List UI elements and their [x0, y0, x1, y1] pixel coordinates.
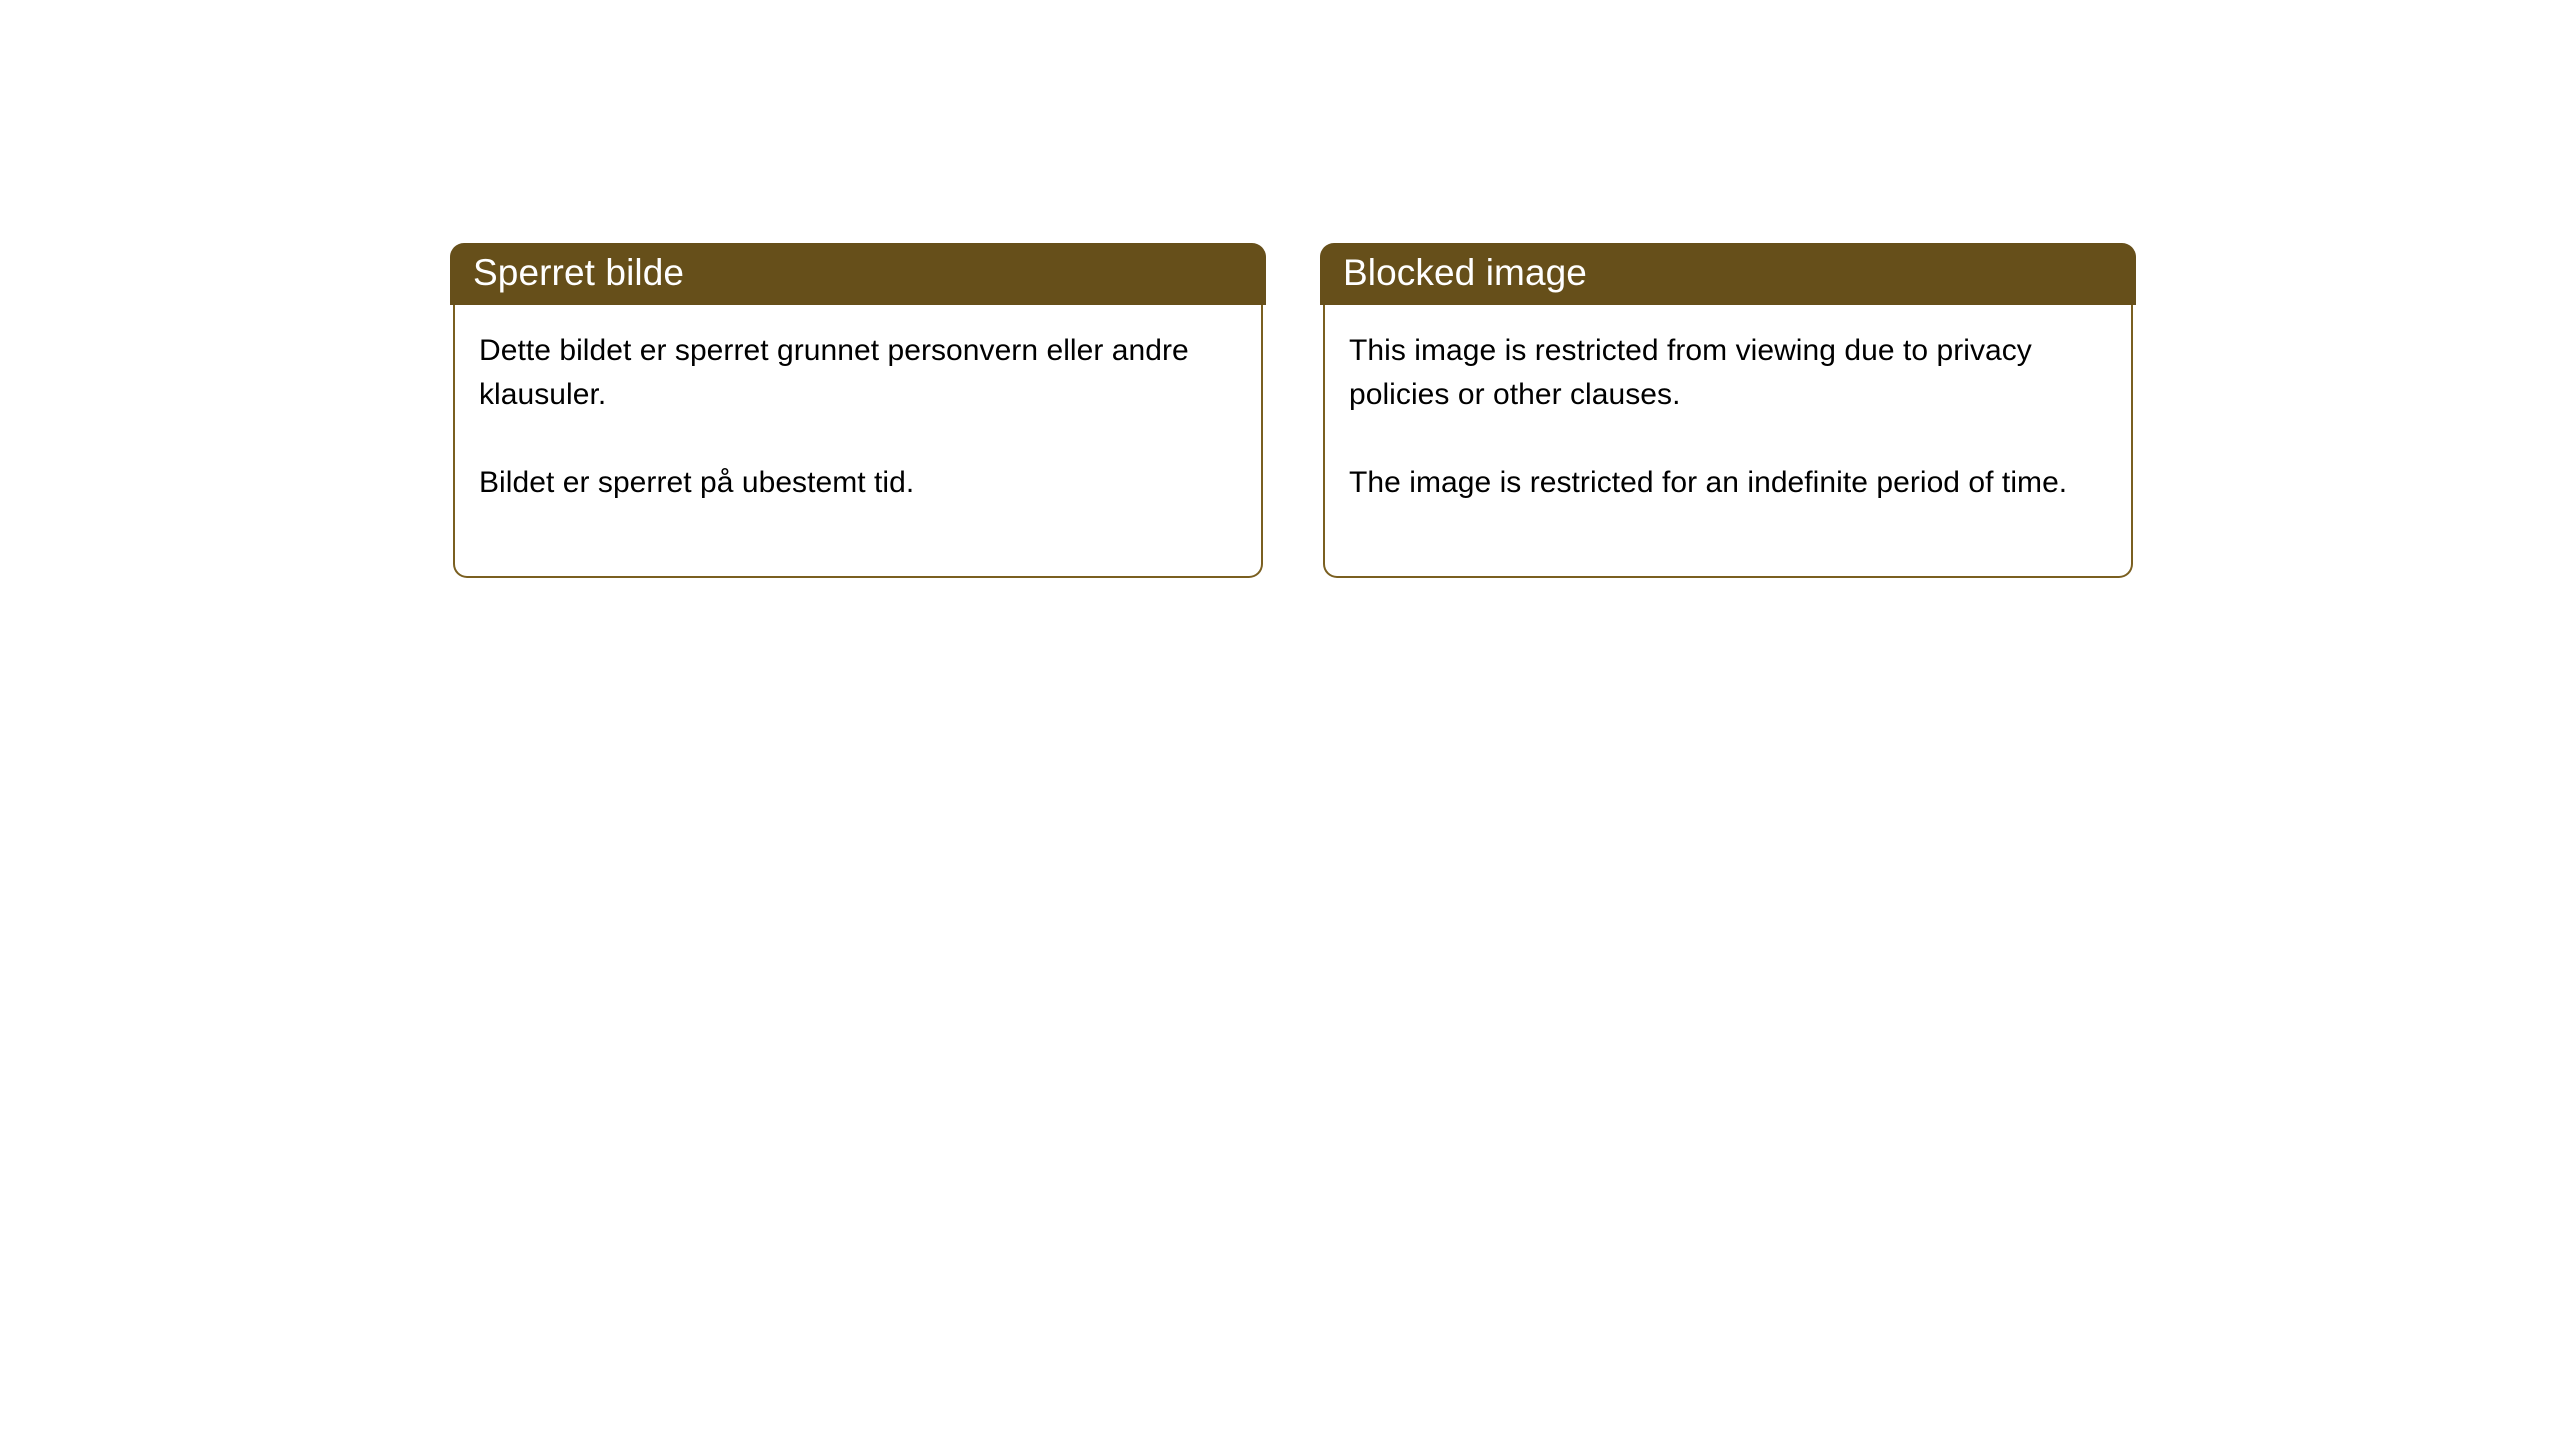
page-root: Sperret bilde Dette bildet er sperret gr… [0, 0, 2560, 1440]
card-body-english: This image is restricted from viewing du… [1323, 305, 2133, 578]
card-header-norwegian: Sperret bilde [450, 243, 1266, 305]
card-title-english: Blocked image [1343, 254, 1587, 295]
card-paragraph-primary-norwegian: Dette bildet er sperret grunnet personve… [479, 329, 1239, 417]
blocked-image-notice-card-english: Blocked image This image is restricted f… [1320, 243, 2136, 578]
blocked-image-notice-card-norwegian: Sperret bilde Dette bildet er sperret gr… [450, 243, 1266, 578]
card-paragraph-secondary-norwegian: Bildet er sperret på ubestemt tid. [479, 461, 1239, 505]
blocked-image-notice-group: Sperret bilde Dette bildet er sperret gr… [450, 243, 2136, 578]
card-title-norwegian: Sperret bilde [473, 254, 684, 295]
card-body-norwegian: Dette bildet er sperret grunnet personve… [453, 305, 1263, 578]
card-header-english: Blocked image [1320, 243, 2136, 305]
card-paragraph-primary-english: This image is restricted from viewing du… [1349, 329, 2109, 417]
card-paragraph-secondary-english: The image is restricted for an indefinit… [1349, 461, 2109, 505]
